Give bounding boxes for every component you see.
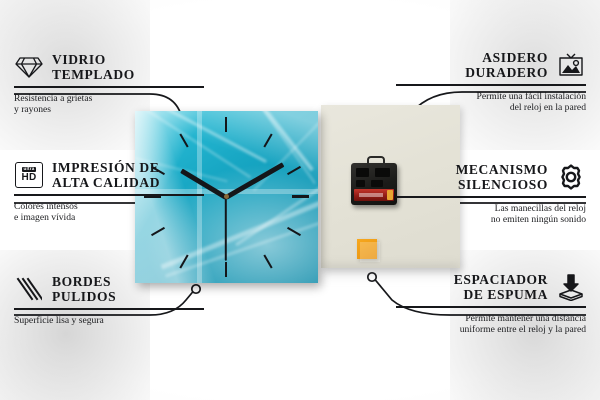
clock-second-hand xyxy=(225,197,227,261)
clock-tick-5 xyxy=(263,255,272,269)
feature-rule xyxy=(14,86,204,88)
feature-title: BORDES xyxy=(52,274,116,289)
clock-tick-2 xyxy=(287,166,301,175)
movement-hanger-icon xyxy=(367,156,385,167)
feature-rule xyxy=(396,196,586,198)
feature-title: MECANISMO xyxy=(456,162,548,177)
feature-espaciador-de-espuma[interactable]: ESPACIADOR DE ESPUMA Permite mantener un… xyxy=(396,272,586,336)
feature-desc-1: Las manecillas del reloj xyxy=(396,203,586,215)
feature-desc-1: Resistencia a grietas xyxy=(14,93,204,105)
feature-desc-2: e imagen vívida xyxy=(14,212,204,224)
feature-desc-1: Permite una fácil instalación xyxy=(396,91,586,103)
feature-rule xyxy=(396,306,586,308)
feature-asidero-duradero[interactable]: ASIDERO DURADERO Permite una fácil insta… xyxy=(396,50,586,114)
clock-center-pin xyxy=(224,194,229,199)
clock-tick-12 xyxy=(225,117,227,132)
foam-spacer xyxy=(357,239,377,259)
feature-bordes-pulidos[interactable]: BORDES PULIDOS Superficie lisa y segura xyxy=(14,274,204,326)
feature-title: IMPRESIÓN DE xyxy=(52,160,160,175)
feature-title-2: SILENCIOSO xyxy=(456,177,548,192)
feature-title-2: PULIDOS xyxy=(52,289,116,304)
feature-rule xyxy=(14,308,204,310)
polished-edges-icon xyxy=(14,274,44,304)
feature-title-2: DURADERO xyxy=(465,65,548,80)
ultra-hd-icon: ultra HD xyxy=(14,160,44,190)
feature-title: VIDRIO xyxy=(52,52,135,67)
feature-title-2: DE ESPUMA xyxy=(454,287,548,302)
feature-rule xyxy=(14,194,204,196)
feature-mecanismo-silencioso[interactable]: MECANISMO SILENCIOSO Las manecillas del … xyxy=(396,162,586,226)
feature-desc-2: del reloj en la pared xyxy=(396,102,586,114)
clock-tick-3 xyxy=(292,195,309,198)
feature-desc-2: uniforme entre el reloj y la pared xyxy=(396,324,586,336)
feature-title-2: TEMPLADO xyxy=(52,67,135,82)
feature-desc-1: Permite mantener una distancia xyxy=(396,313,586,325)
feature-vidrio-templado[interactable]: VIDRIO TEMPLADO Resistencia a grietas y … xyxy=(14,52,204,116)
feature-desc-2: y rayones xyxy=(14,104,204,116)
ultra-hd-icon-large-text: HD xyxy=(21,173,36,183)
movement-battery xyxy=(354,189,394,201)
infographic-canvas: VIDRIO TEMPLADO Resistencia a grietas y … xyxy=(0,0,600,400)
clock-tick-8 xyxy=(151,227,165,236)
clock-tick-1 xyxy=(263,134,272,148)
feature-desc-1: Superficie lisa y segura xyxy=(14,315,204,327)
spacer-press-icon xyxy=(556,272,586,302)
feature-impresion-alta-calidad[interactable]: ultra HD IMPRESIÓN DE ALTA CALIDAD Color… xyxy=(14,160,204,224)
diamond-icon xyxy=(14,52,44,82)
feature-title: ASIDERO xyxy=(465,50,548,65)
feature-rule xyxy=(396,84,586,86)
clock-tick-6 xyxy=(225,262,227,277)
gear-icon xyxy=(556,162,586,192)
feature-desc-2: no emiten ningún sonido xyxy=(396,214,586,226)
wall-hanger-icon xyxy=(556,50,586,80)
clock-movement xyxy=(351,163,397,205)
feature-desc-1: Colores intensos xyxy=(14,201,204,213)
feature-title: ESPACIADOR xyxy=(454,272,548,287)
feature-title-2: ALTA CALIDAD xyxy=(52,175,160,190)
